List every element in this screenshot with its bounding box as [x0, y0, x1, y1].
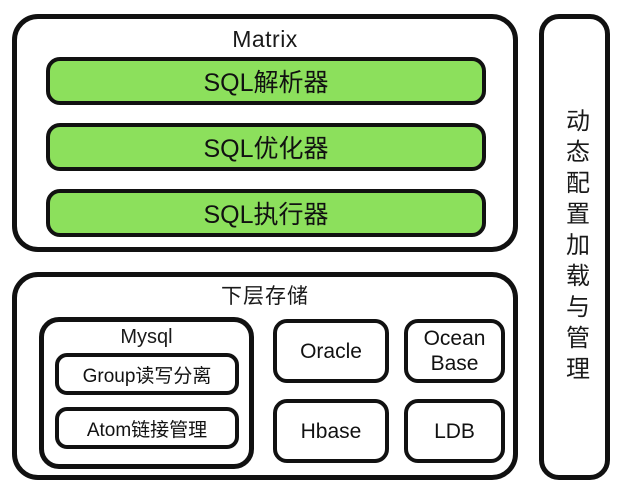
mysql-item-label: Group读写分离	[83, 361, 212, 388]
matrix-title: Matrix	[17, 25, 513, 53]
matrix-container: Matrix SQL解析器 SQL优化器 SQL执行器	[12, 14, 518, 252]
storage-box-ldb[interactable]: LDB	[404, 399, 505, 463]
storage-container: 下层存储 Mysql Group读写分离 Atom链接管理 Oracle Oce…	[12, 272, 518, 480]
storage-box-hbase[interactable]: Hbase	[273, 399, 389, 463]
storage-box-oracle[interactable]: Oracle	[273, 319, 389, 383]
matrix-layer-label: SQL解析器	[203, 63, 328, 99]
mysql-item-group-read-write-split[interactable]: Group读写分离	[55, 353, 239, 395]
config-management-panel: 动态配置加载与管理	[539, 14, 610, 480]
storage-box-label: LDB	[434, 419, 475, 444]
mysql-group: Mysql Group读写分离 Atom链接管理	[39, 317, 254, 469]
matrix-layer-label: SQL执行器	[203, 195, 328, 231]
mysql-group-title: Mysql	[44, 324, 249, 350]
mysql-item-label: Atom链接管理	[87, 415, 207, 442]
matrix-layer-sql-parser[interactable]: SQL解析器	[46, 57, 486, 105]
matrix-layer-sql-executor[interactable]: SQL执行器	[46, 189, 486, 237]
mysql-item-atom-connection-management[interactable]: Atom链接管理	[55, 407, 239, 449]
storage-box-oceanbase[interactable]: OceanBase	[404, 319, 505, 383]
storage-box-label: Oracle	[300, 339, 362, 364]
storage-box-label: OceanBase	[424, 326, 486, 376]
storage-box-label: Hbase	[301, 419, 362, 444]
config-management-panel-label: 动态配置加载与管理	[563, 108, 587, 387]
matrix-layer-label: SQL优化器	[203, 129, 328, 165]
storage-title: 下层存储	[17, 284, 513, 310]
matrix-layer-sql-optimizer[interactable]: SQL优化器	[46, 123, 486, 171]
diagram-canvas: Matrix SQL解析器 SQL优化器 SQL执行器 下层存储 Mysql G…	[0, 0, 628, 494]
